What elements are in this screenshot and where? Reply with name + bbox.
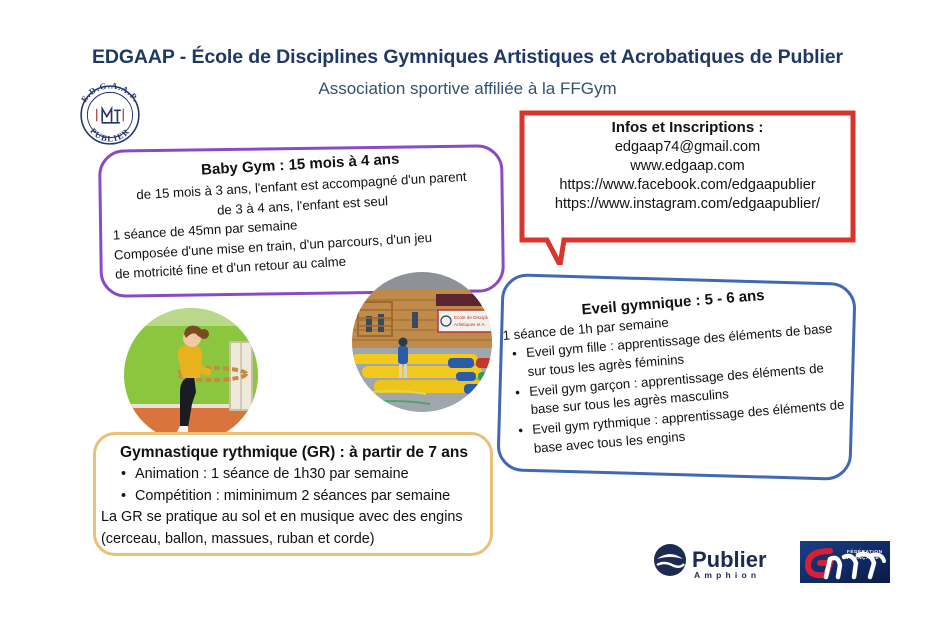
photo-gym-hall-with-mats: Ecole de Disciplines Artistiques et A: [352, 272, 492, 412]
photo-gymnast-with-hoop: [124, 308, 258, 442]
infos-website[interactable]: www.edgaap.com: [524, 157, 851, 176]
publier-amphion-logo: Publier Amphion: [652, 542, 794, 582]
svg-text:Ecole de Disciplines: Ecole de Disciplines: [454, 315, 492, 320]
infos-heading: Infos et Inscriptions :: [524, 118, 851, 138]
gr-bullet-list: Animation : 1 séance de 1h30 par semaine…: [101, 464, 487, 507]
publier-logo-line1: Publier: [692, 547, 767, 572]
baby-gym-text: Baby Gym : 15 mois à 4 ans de 15 mois à …: [104, 143, 502, 285]
gr-line-1: (cerceau, ballon, massues, ruban et cord…: [101, 529, 487, 551]
infos-email[interactable]: edgaap74@gmail.com: [524, 138, 851, 157]
federation-francaise-gym-logo: FÉDÉRATION FRANÇAISE: [800, 541, 890, 583]
gr-line-0: La GR se pratique au sol et en musique a…: [101, 507, 487, 529]
page-title: EDGAAP - École de Disciplines Gymniques …: [0, 46, 935, 69]
gymnastique-rythmique-text: Gymnastique rythmique (GR) : à partir de…: [101, 441, 487, 551]
svg-text:Artistiques et A: Artistiques et A: [454, 322, 486, 327]
gr-heading: Gymnastique rythmique (GR) : à partir de…: [101, 441, 487, 464]
list-item: Animation : 1 séance de 1h30 par semaine: [135, 464, 487, 486]
publier-logo-line2: Amphion: [694, 570, 760, 580]
infos-facebook-link[interactable]: https://www.facebook.com/edgaapublier: [524, 176, 851, 195]
eveil-gymnique-text: Eveil gymnique : 5 - 6 ans 1 séance de 1…: [500, 278, 856, 461]
poster-canvas: EDGAAP - École de Disciplines Gymniques …: [0, 0, 935, 623]
infos-instagram-link[interactable]: https://www.instagram.com/edgaapublier/: [524, 195, 851, 214]
list-item: Compétition : miminimum 2 séances par se…: [135, 486, 487, 508]
infos-inscriptions-text: Infos et Inscriptions : edgaap74@gmail.c…: [524, 118, 851, 214]
edgaap-association-seal-icon: E.D.G.A.A.P. PUBLIER: [71, 76, 149, 154]
